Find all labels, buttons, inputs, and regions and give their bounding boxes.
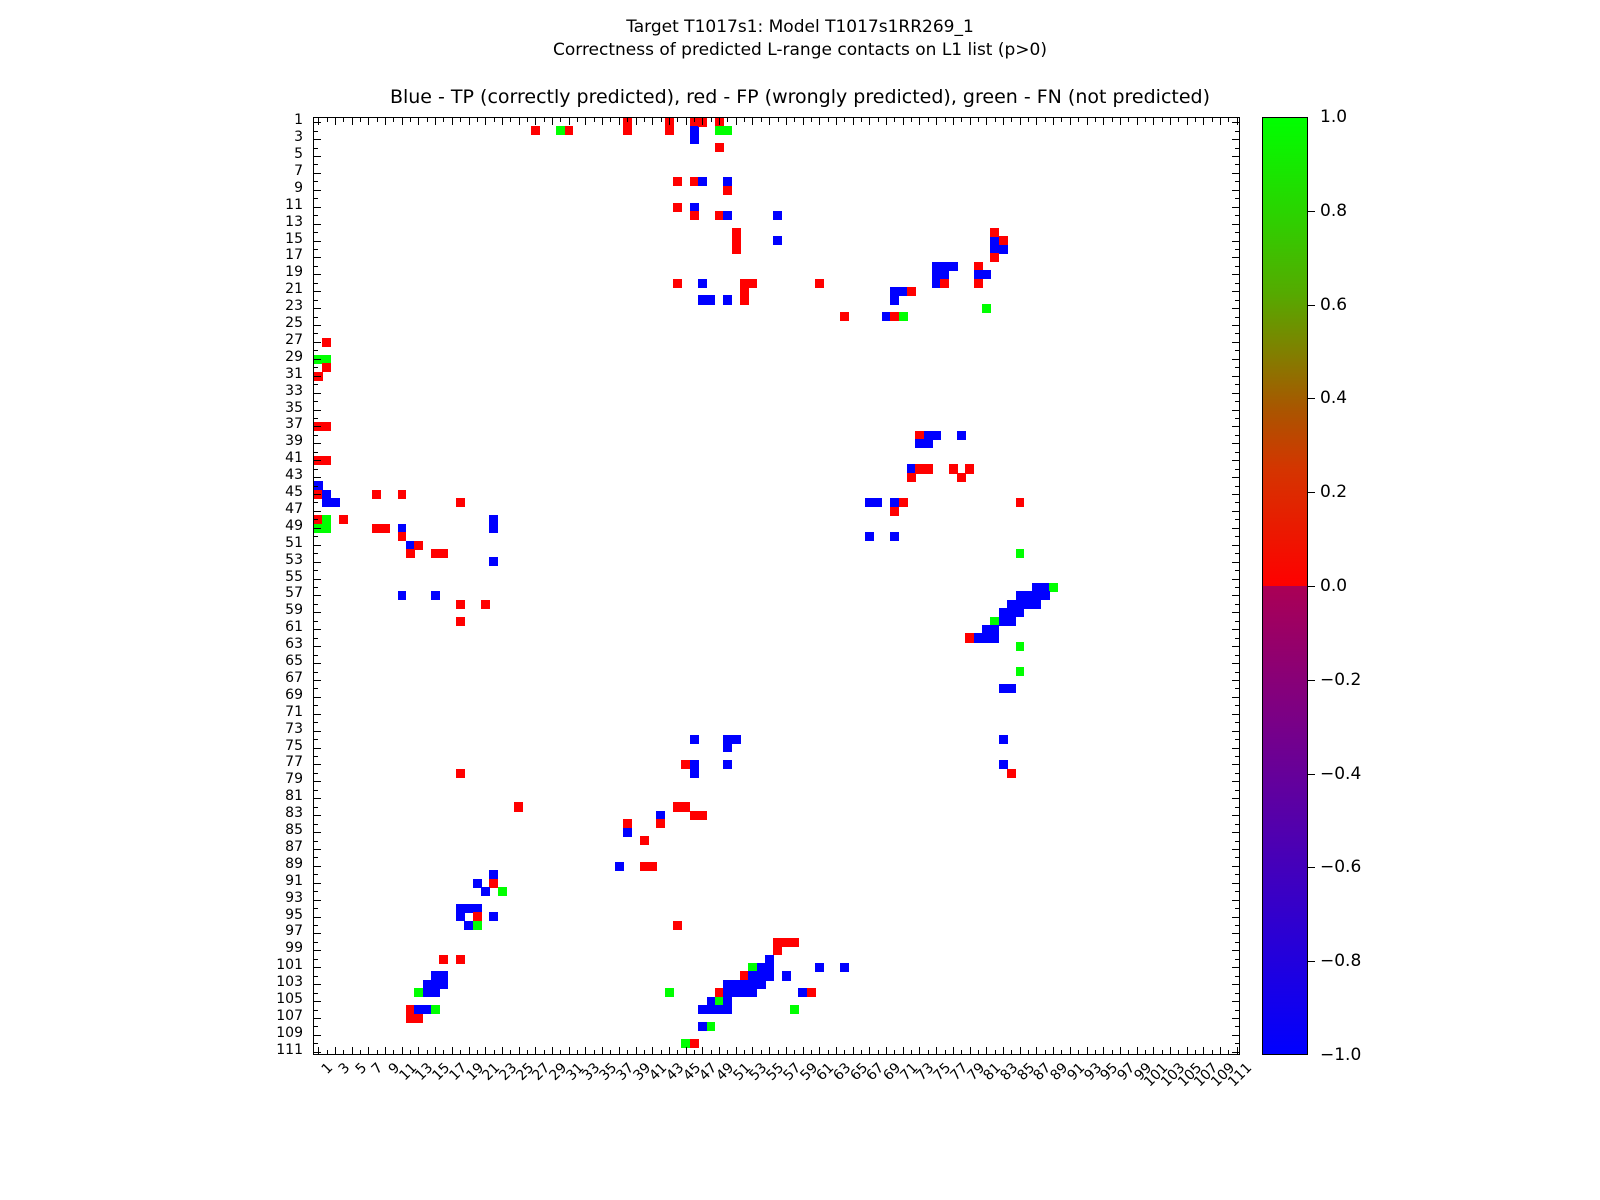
y-tick-label: 53 — [0, 552, 303, 568]
y-tick-label: 51 — [0, 535, 303, 551]
y-tick-label: 7 — [0, 163, 303, 179]
colorbar-tick-label: 0.8 — [1320, 201, 1347, 221]
colorbar-tick — [1308, 211, 1315, 212]
y-tick-label: 27 — [0, 332, 303, 348]
y-tick-label: 59 — [0, 602, 303, 618]
title-block: Target T1017s1: Model T1017s1RR269_1 Cor… — [0, 16, 1600, 62]
y-tick-label: 17 — [0, 247, 303, 263]
y-tick-label: 101 — [0, 957, 303, 973]
colorbar-tick-label: 0.2 — [1320, 482, 1347, 502]
y-tick-label: 71 — [0, 704, 303, 720]
y-tick-label: 55 — [0, 569, 303, 585]
x-axis: 1357911131517192123252729313335373941434… — [313, 1060, 1240, 1140]
y-tick-label: 111 — [0, 1042, 303, 1058]
title-line-2: Correctness of predicted L-range contact… — [0, 39, 1600, 62]
y-tick-label: 37 — [0, 416, 303, 432]
y-tick-label: 13 — [0, 214, 303, 230]
y-tick-label: 3 — [0, 129, 303, 145]
y-tick-label: 29 — [0, 349, 303, 365]
y-tick-label: 73 — [0, 721, 303, 737]
y-tick-label: 67 — [0, 670, 303, 686]
colorbar-tick-label: −0.2 — [1320, 670, 1361, 690]
colorbar-tick-label: 1.0 — [1320, 107, 1347, 127]
y-tick-label: 87 — [0, 839, 303, 855]
y-tick-label: 93 — [0, 890, 303, 906]
y-tick-label: 31 — [0, 366, 303, 382]
y-tick-label: 49 — [0, 518, 303, 534]
colorbar-tick-label: −1.0 — [1320, 1045, 1361, 1065]
y-tick-label: 85 — [0, 822, 303, 838]
y-tick-label: 77 — [0, 754, 303, 770]
y-tick-label: 69 — [0, 687, 303, 703]
y-tick-label: 45 — [0, 484, 303, 500]
y-tick-label: 35 — [0, 400, 303, 416]
y-tick-label: 9 — [0, 180, 303, 196]
colorbar-tick-label: 0.0 — [1320, 576, 1347, 596]
y-tick-label: 57 — [0, 585, 303, 601]
y-tick-label: 1 — [0, 112, 303, 128]
y-tick-label: 91 — [0, 873, 303, 889]
y-tick-label: 61 — [0, 619, 303, 635]
y-tick-label: 81 — [0, 788, 303, 804]
y-tick-label: 103 — [0, 974, 303, 990]
y-tick-label: 47 — [0, 501, 303, 517]
title-line-1: Target T1017s1: Model T1017s1RR269_1 — [0, 16, 1600, 39]
y-tick-label: 107 — [0, 1008, 303, 1024]
y-tick-label: 21 — [0, 281, 303, 297]
y-tick-label: 83 — [0, 805, 303, 821]
y-tick-label: 23 — [0, 298, 303, 314]
colorbar-tick — [1308, 305, 1315, 306]
colorbar-tick-label: −0.4 — [1320, 764, 1361, 784]
y-tick-label: 15 — [0, 231, 303, 247]
y-tick-label: 25 — [0, 315, 303, 331]
colorbar-tick — [1308, 961, 1315, 962]
y-tick-label: 39 — [0, 433, 303, 449]
y-tick-label: 79 — [0, 771, 303, 787]
y-tick-label: 63 — [0, 636, 303, 652]
y-tick-label: 65 — [0, 653, 303, 669]
colorbar-tick — [1308, 867, 1315, 868]
y-tick-label: 19 — [0, 264, 303, 280]
colorbar-tick-label: −0.8 — [1320, 951, 1361, 971]
y-tick-label: 99 — [0, 940, 303, 956]
y-tick-label: 33 — [0, 383, 303, 399]
colorbar-tick — [1308, 398, 1315, 399]
colorbar-tick-label: 0.4 — [1320, 388, 1347, 408]
colorbar-tick — [1308, 680, 1315, 681]
y-tick-label: 109 — [0, 1025, 303, 1041]
y-tick-label: 75 — [0, 738, 303, 754]
colorbar-tick-label: −0.6 — [1320, 857, 1361, 877]
y-tick-label: 41 — [0, 450, 303, 466]
y-tick-label: 105 — [0, 991, 303, 1007]
colorbar-tick-label: 0.6 — [1320, 295, 1347, 315]
colorbar-tick — [1308, 774, 1315, 775]
y-tick-label: 89 — [0, 856, 303, 872]
legend-subtitle: Blue - TP (correctly predicted), red - F… — [0, 86, 1600, 108]
y-tick-label: 5 — [0, 146, 303, 162]
colorbar-axis: 1.00.80.60.40.20.0−0.2−0.4−0.6−0.8−1.0 — [1262, 117, 1462, 1055]
colorbar-tick — [1308, 492, 1315, 493]
colorbar-tick — [1308, 586, 1315, 587]
y-tick-label: 97 — [0, 923, 303, 939]
y-tick-label: 95 — [0, 907, 303, 923]
y-tick-label: 11 — [0, 197, 303, 213]
y-tick-label: 43 — [0, 467, 303, 483]
